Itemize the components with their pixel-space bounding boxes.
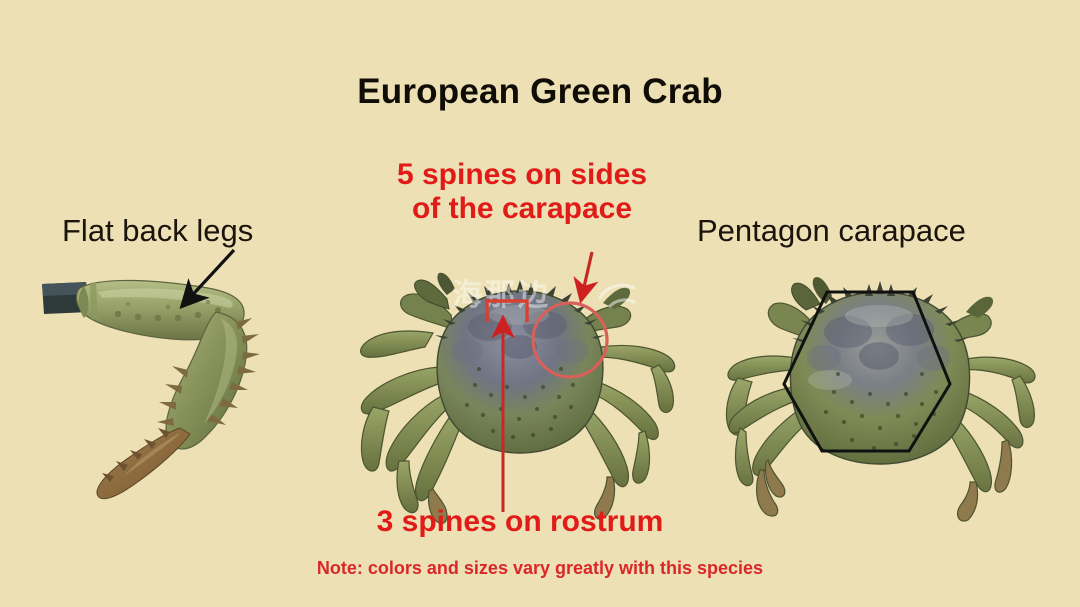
note-text: Note: colors and sizes vary greatly with… — [240, 558, 840, 578]
crab-carapace — [790, 281, 969, 464]
label-pentagon-carapace: Pentagon carapace — [697, 214, 966, 249]
label-spines-on-sides: 5 spines on sides of the carapace — [362, 158, 682, 225]
watermark-swirl-icon — [596, 276, 640, 314]
label-spines-on-rostrum: 3 spines on rostrum — [300, 505, 740, 539]
rostrum-spines — [865, 281, 895, 296]
infographic-canvas: European Green Crab — [0, 0, 1080, 607]
label-flat-back-legs: Flat back legs — [62, 214, 253, 249]
figure-crab-back-leg — [40, 262, 330, 522]
label-spines-on-sides-line2: of the carapace — [362, 192, 682, 226]
figure-crab-top-view — [720, 262, 1040, 524]
leg-dactyl-tip — [97, 428, 190, 499]
watermark-text: 海那边 — [452, 270, 551, 314]
page-title: European Green Crab — [0, 72, 1080, 111]
label-spines-on-sides-line1: 5 spines on sides — [397, 158, 647, 191]
